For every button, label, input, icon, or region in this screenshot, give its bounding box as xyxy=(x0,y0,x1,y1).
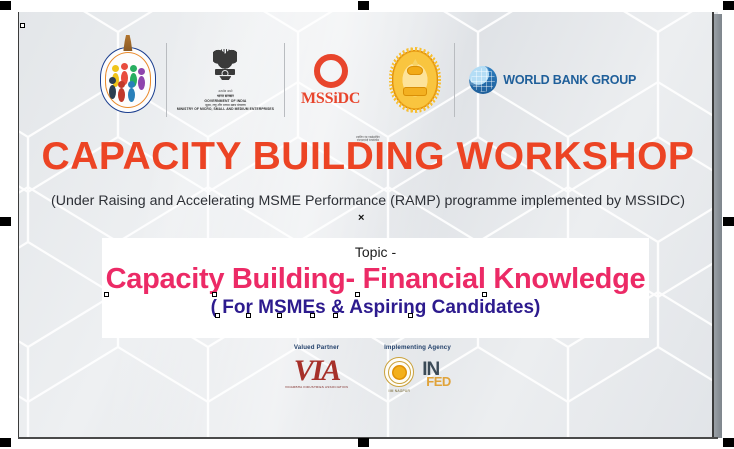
text-handle-9[interactable] xyxy=(333,313,338,318)
via-logo-subtext: VIDARBHA INDUSTRIES ASSOCIATION xyxy=(285,385,348,389)
handle-bottom-right[interactable] xyxy=(723,438,734,447)
ramp-figures-icon xyxy=(108,63,148,97)
infed-logo: IN FED xyxy=(422,362,451,388)
handle-bottom-center[interactable] xyxy=(358,438,369,447)
ashoka-pillar-icon xyxy=(123,35,132,51)
maharashtra-emblem-inner xyxy=(402,62,428,98)
via-logo: VIA xyxy=(294,357,340,384)
handle-bottom-left[interactable] xyxy=(0,438,11,447)
logo-strip: राइजिंग एंड एक्सेलरेटिंग एमएसएमई परफॉरमे… xyxy=(18,30,718,130)
world-bank-globe-icon xyxy=(469,66,497,94)
text-handle-8[interactable] xyxy=(310,313,315,318)
handle-middle-left[interactable] xyxy=(0,217,11,226)
text-handle-3[interactable] xyxy=(355,292,360,297)
canvas-area: राइजिंग एंड एक्सेलरेटिंग एमएसएमई परफॉरमे… xyxy=(0,0,734,449)
government-logo-cell: सत्यमेव जयते भारत सरकार GOVERNMENT OF IN… xyxy=(167,32,284,128)
iim-seal-icon xyxy=(384,357,414,387)
government-caption: सत्यमेव जयते भारत सरकार GOVERNMENT OF IN… xyxy=(177,90,274,112)
selection-frame-left xyxy=(18,12,19,439)
valued-partner-group: Valued Partner VIA VIDARBHA INDUSTRIES A… xyxy=(285,344,348,389)
topic-label: Topic - xyxy=(355,245,396,260)
world-bank-logo-cell: WORLD BANK GROUP xyxy=(455,32,646,128)
ashoka-base-icon xyxy=(219,76,231,80)
scrollbar[interactable] xyxy=(714,14,722,438)
text-handle-2[interactable] xyxy=(212,292,217,297)
iim-nagpur-logo: IIM NAGPUR xyxy=(384,357,414,393)
handle-top-right[interactable] xyxy=(723,1,734,10)
implementing-agency-caption: Implementing Agency xyxy=(384,344,451,351)
handle-top-center[interactable] xyxy=(358,1,369,10)
lamp-icon xyxy=(407,66,423,75)
mssidc-gear-icon xyxy=(314,54,348,88)
footer-partners-strip: Valued Partner VIA VIDARBHA INDUSTRIES A… xyxy=(18,344,718,426)
page-title: CAPACITY BUILDING WORKSHOP xyxy=(18,137,718,176)
handle-top-left[interactable] xyxy=(0,1,11,10)
handle-middle-right[interactable] xyxy=(723,217,734,226)
topic-audience: ( For MSMEs & Aspiring Candidates) xyxy=(211,298,541,319)
text-handle-6[interactable] xyxy=(246,313,251,318)
implementing-agency-group: Implementing Agency IIM NAGPUR IN FED xyxy=(384,344,451,393)
ramp-logo-cell: राइजिंग एंड एक्सेलरेटिंग एमएसएमई परफॉरमे… xyxy=(90,32,166,128)
ashoka-emblem-icon xyxy=(212,48,238,88)
topic-box[interactable]: Topic - Capacity Building- Financial Kno… xyxy=(102,238,649,338)
text-handle-7[interactable] xyxy=(277,313,282,318)
canvas-handle-topleft[interactable] xyxy=(20,23,25,28)
maharashtra-emblem-icon xyxy=(392,50,438,110)
scroll-icon xyxy=(403,87,427,96)
selection-frame-right xyxy=(712,12,714,439)
ashoka-mane-icon xyxy=(214,49,236,62)
text-handle-1[interactable] xyxy=(104,292,109,297)
ashoka-chakra-icon xyxy=(222,70,229,77)
workshop-banner-image[interactable]: राइजिंग एंड एक्सेलरेटिंग एमएसएमई परफॉरमे… xyxy=(18,12,718,439)
gov-line-5: MINISTRY OF MICRO, SMALL AND MEDIUM ENTE… xyxy=(177,107,274,111)
page-subtitle: (Under Raising and Accelerating MSME Per… xyxy=(18,193,718,209)
close-icon[interactable]: × xyxy=(358,213,364,224)
mssidc-wordmark: MSSiDC xyxy=(301,91,360,107)
text-handle-5[interactable] xyxy=(215,313,220,318)
iim-sun-icon xyxy=(392,365,407,380)
valued-partner-caption: Valued Partner xyxy=(294,344,339,351)
ramp-emblem-icon xyxy=(100,47,156,113)
text-handle-10[interactable] xyxy=(408,313,413,318)
mssidc-logo-cell: MSSiDC xyxy=(285,32,376,128)
world-bank-wordmark: WORLD BANK GROUP xyxy=(503,73,636,87)
text-handle-4[interactable] xyxy=(482,292,487,297)
implementing-agency-logos: IIM NAGPUR IN FED xyxy=(384,357,451,393)
maharashtra-logo-cell xyxy=(376,32,454,128)
infed-line-2: FED xyxy=(426,377,451,388)
iim-caption: IIM NAGPUR xyxy=(388,389,410,393)
topic-headline: Capacity Building- Financial Knowledge xyxy=(106,264,646,294)
